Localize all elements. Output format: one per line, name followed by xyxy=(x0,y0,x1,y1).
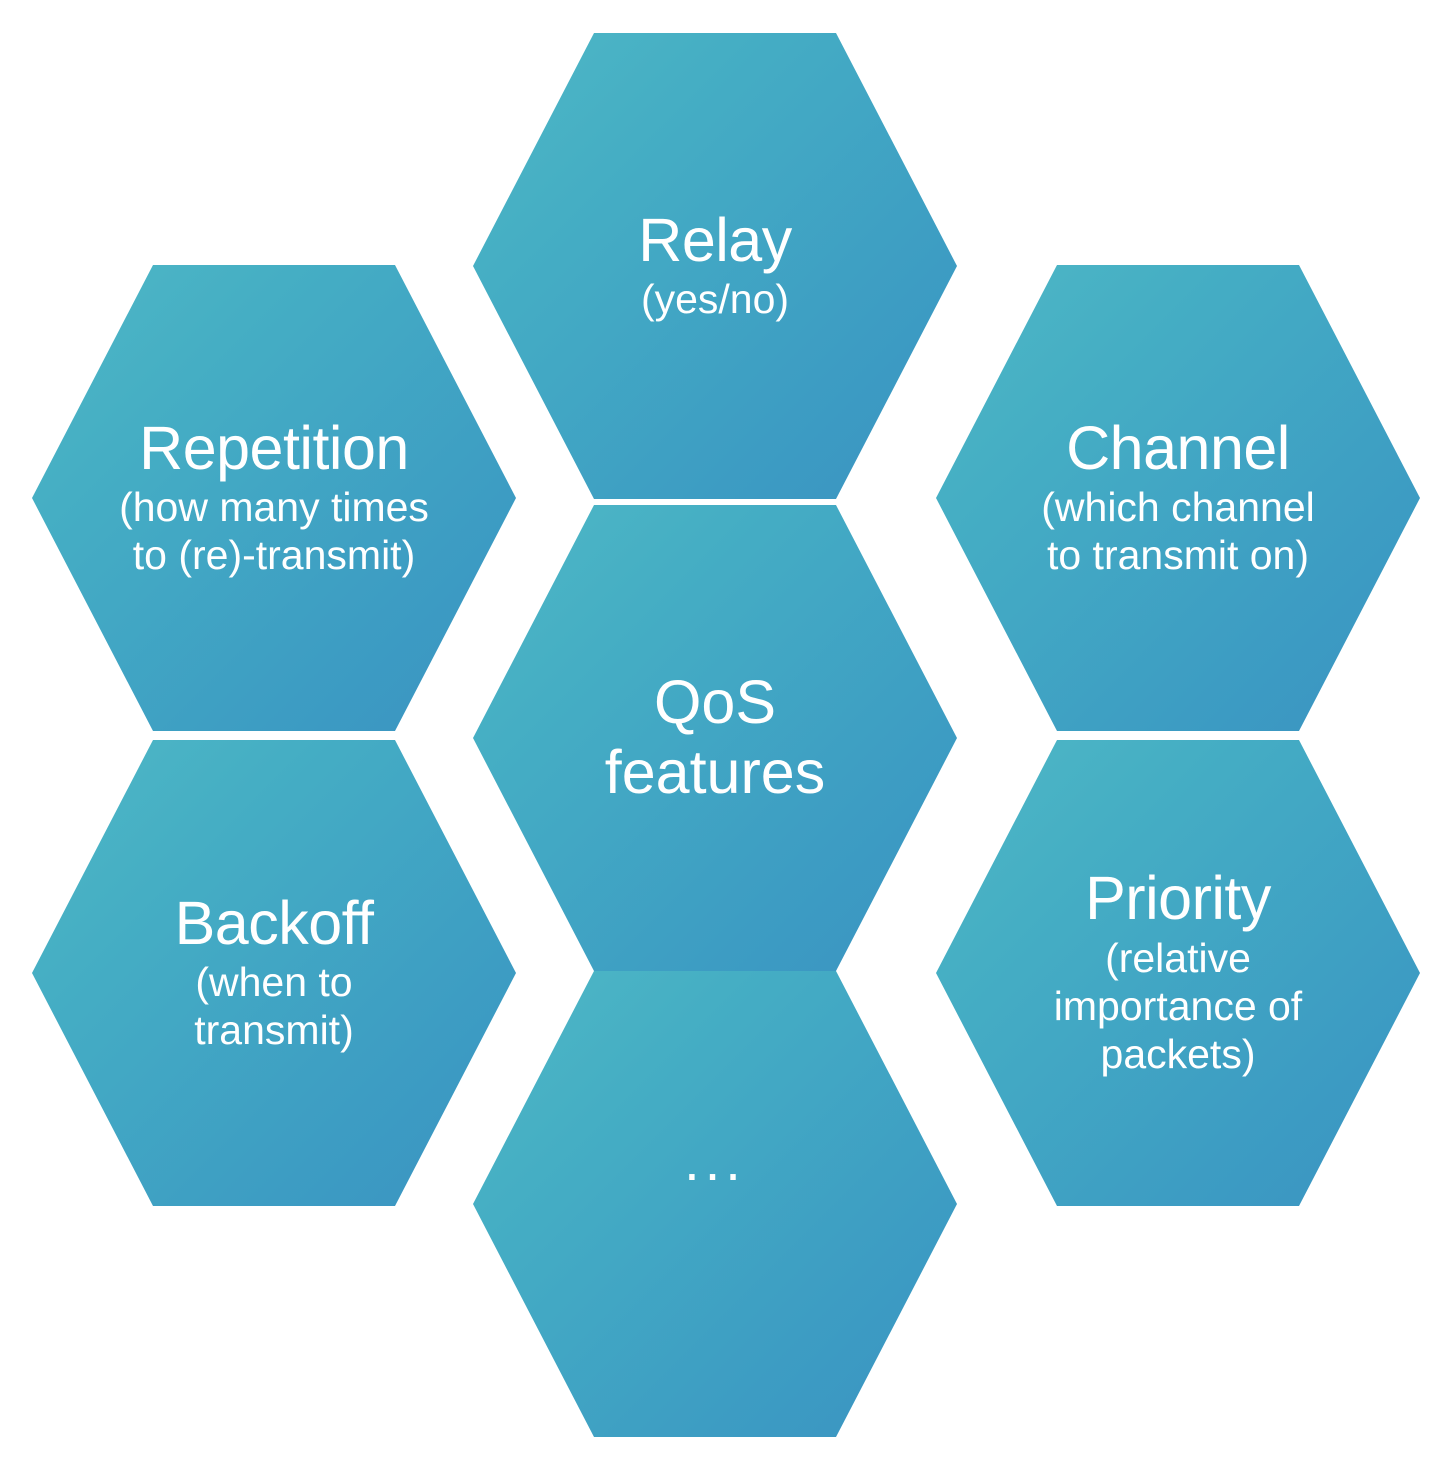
hexagon-qos-features-content: QoS features xyxy=(557,668,873,807)
hexagon-repetition-description: (how many times to (re)-transmit) xyxy=(116,483,432,580)
hexagon-repetition-title: Repetition xyxy=(139,417,409,479)
hexagon-qos-features-line1: QoS xyxy=(654,668,776,738)
qos-features-hexagon-diagram: Repetition (how many times to (re)-trans… xyxy=(0,0,1449,1471)
hexagon-backoff[interactable]: Backoff (when to transmit) xyxy=(32,740,516,1206)
hexagon-relay[interactable]: Relay (yes/no) xyxy=(473,33,957,499)
hexagon-relay-description: (yes/no) xyxy=(641,275,789,323)
hexagon-priority-description: (relative importance of packets) xyxy=(1020,934,1336,1079)
hexagon-qos-features[interactable]: QoS features xyxy=(473,505,957,971)
hexagon-priority-title: Priority xyxy=(1085,867,1271,929)
hexagon-channel-title: Channel xyxy=(1066,417,1290,479)
hexagon-relay-title: Relay xyxy=(638,209,791,271)
hexagon-priority-content: Priority (relative importance of packets… xyxy=(1020,867,1336,1078)
hexagon-priority[interactable]: Priority (relative importance of packets… xyxy=(936,740,1420,1206)
hexagon-channel[interactable]: Channel (which channel to transmit on) xyxy=(936,265,1420,731)
hexagon-repetition[interactable]: Repetition (how many times to (re)-trans… xyxy=(32,265,516,731)
hexagon-backoff-title: Backoff xyxy=(175,892,374,954)
hexagon-channel-description: (which channel to transmit on) xyxy=(1020,483,1336,580)
hexagon-backoff-description: (when to transmit) xyxy=(116,958,432,1055)
hexagon-channel-content: Channel (which channel to transmit on) xyxy=(1020,417,1336,580)
hexagon-relay-content: Relay (yes/no) xyxy=(557,209,873,324)
hexagon-more-content: ... xyxy=(557,1133,873,1275)
hexagon-repetition-content: Repetition (how many times to (re)-trans… xyxy=(116,417,432,580)
hexagon-backoff-content: Backoff (when to transmit) xyxy=(116,892,432,1055)
hexagon-qos-features-line2: features xyxy=(605,738,825,808)
hexagon-more[interactable]: ... xyxy=(473,971,957,1437)
hexagon-more-ellipsis: ... xyxy=(684,1133,746,1189)
